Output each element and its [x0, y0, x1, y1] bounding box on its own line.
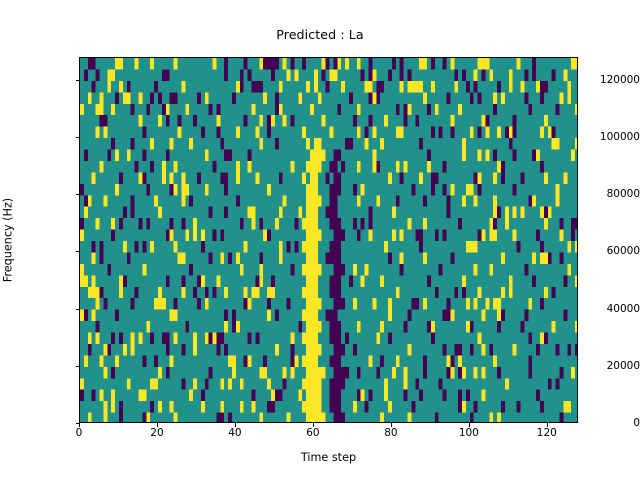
y-tick-label: 120000	[567, 74, 640, 86]
x-tick-mark	[313, 423, 314, 427]
x-tick-mark	[79, 423, 80, 427]
x-tick-label: 60	[306, 427, 319, 439]
x-tick-mark	[235, 423, 236, 427]
x-tick-mark	[469, 423, 470, 427]
y-axis-label: Frequency (Hz)	[2, 198, 15, 282]
y-tick-label: 60000	[567, 245, 640, 257]
y-tick-mark	[76, 137, 80, 138]
spectrogram-heatmap	[80, 58, 578, 423]
x-tick-mark	[547, 423, 548, 427]
y-tick-label: 0	[567, 417, 640, 429]
x-axis-label: Time step	[79, 451, 578, 464]
y-tick-label: 40000	[567, 303, 640, 315]
x-tick-label: 80	[384, 427, 397, 439]
page-title: Predicted : La	[0, 27, 640, 42]
y-tick-mark	[76, 309, 80, 310]
x-tick-label: 100	[459, 427, 479, 439]
x-tick-mark	[391, 423, 392, 427]
x-tick-label: 120	[537, 427, 557, 439]
y-tick-mark	[76, 423, 80, 424]
y-axis-label-wrapper: Frequency (Hz)	[0, 57, 16, 423]
matplotlib-figure: Predicted : La 020406080100120 020000400…	[0, 0, 640, 480]
x-tick-label: 0	[76, 427, 83, 439]
heatmap-axes	[79, 57, 578, 423]
y-tick-mark	[76, 366, 80, 367]
x-tick-label: 40	[228, 427, 241, 439]
y-tick-label: 80000	[567, 188, 640, 200]
y-tick-mark	[76, 80, 80, 81]
x-tick-label: 20	[150, 427, 163, 439]
y-tick-label: 20000	[567, 360, 640, 372]
y-tick-mark	[76, 251, 80, 252]
x-tick-mark	[157, 423, 158, 427]
y-tick-mark	[76, 194, 80, 195]
y-tick-label: 100000	[567, 131, 640, 143]
